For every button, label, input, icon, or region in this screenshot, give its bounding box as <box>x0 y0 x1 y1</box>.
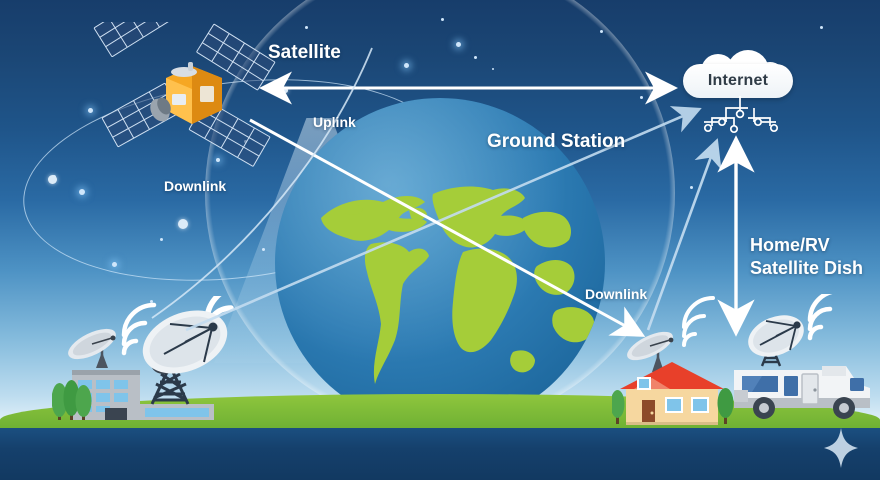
star <box>690 186 693 189</box>
satellite-internet-diagram: Internet Satellite Ground Station Home/R… <box>0 0 880 480</box>
tree-group <box>52 380 92 420</box>
large-dish <box>133 299 236 420</box>
label-satellite: Satellite <box>268 42 341 64</box>
rv-body <box>734 366 870 419</box>
label-home-rv-dish: Home/RV Satellite Dish <box>750 234 863 280</box>
water-band <box>0 428 880 480</box>
label-downlink-right: Downlink <box>585 286 647 302</box>
rv-icon <box>718 294 878 428</box>
label-downlink-left: Downlink <box>164 178 226 194</box>
cloud-label: Internet <box>683 64 793 98</box>
orbit-marker-dot <box>48 175 57 184</box>
label-ground-station: Ground Station <box>487 131 625 153</box>
wifi-signal-icon <box>684 298 713 345</box>
internet-cloud[interactable]: Internet <box>683 50 793 100</box>
house-roof <box>620 362 724 389</box>
orbit-marker-dot <box>178 219 188 229</box>
wifi-signal-icon <box>810 294 839 338</box>
rv-dish <box>742 308 810 366</box>
star <box>820 26 823 29</box>
label-uplink: Uplink <box>313 114 356 130</box>
sparkle-star-icon <box>824 428 858 468</box>
ground-station-icon <box>52 296 267 428</box>
small-dish <box>64 323 120 368</box>
circuit-trace-icon <box>690 96 790 132</box>
satellite-icon <box>88 22 298 187</box>
